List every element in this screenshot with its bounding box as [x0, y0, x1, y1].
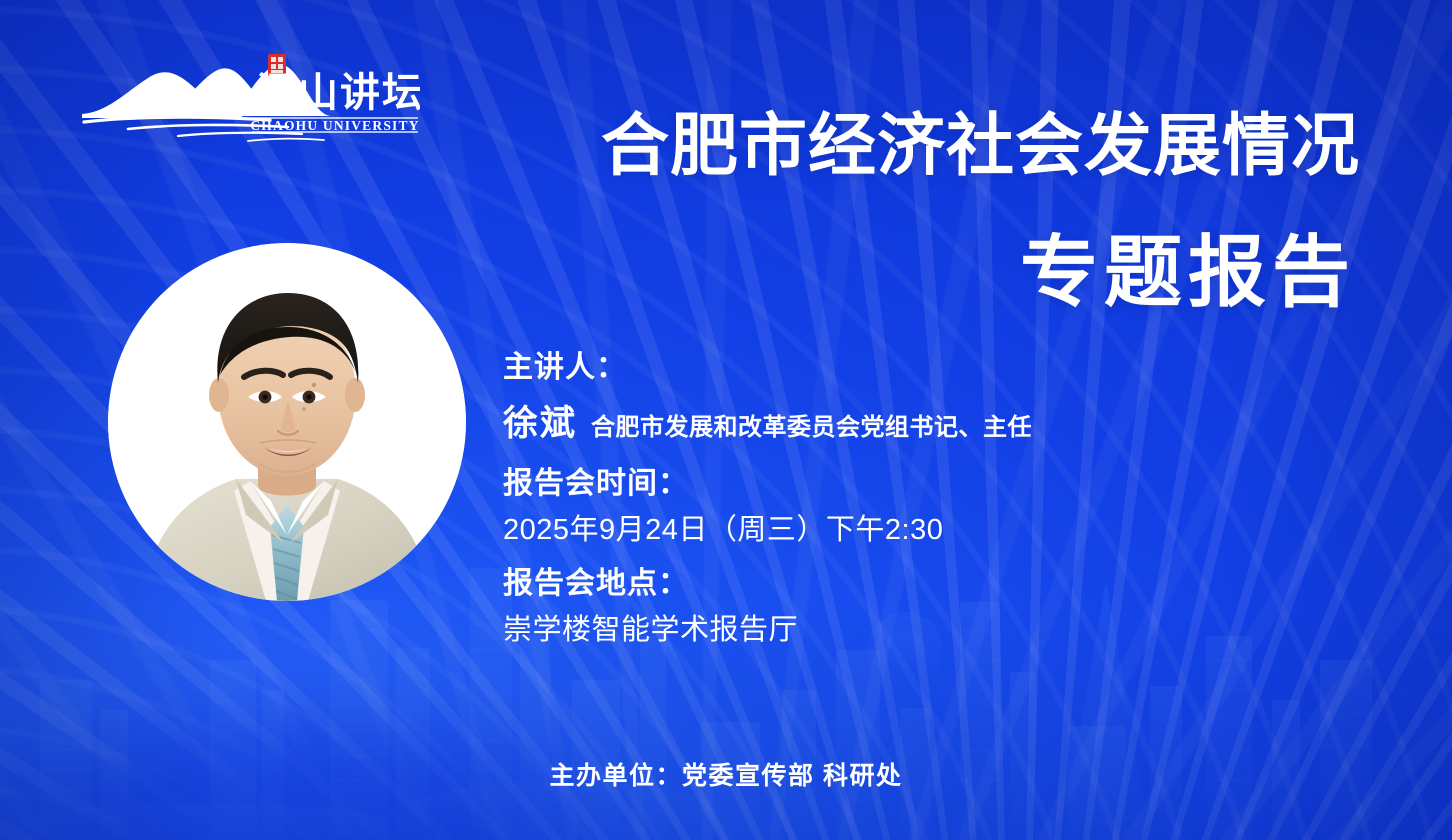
speaker-title: 合肥市发展和改革委员会党组书记、主任 [591, 407, 1032, 442]
event-info: 主讲人： 徐斌 合肥市发展和改革委员会党组书记、主任 报告会时间： 2025年9… [503, 348, 1383, 664]
avatar [108, 243, 466, 601]
poster-root: 汤山讲坛 CHAOHU UNIVERSITY [0, 0, 1452, 840]
logo-brand-cn: 汤山讲坛 [256, 70, 420, 115]
headline-line-2: 专题报告 [420, 233, 1360, 313]
speaker-name: 徐斌 [503, 395, 577, 446]
time-value: 2025年9月24日（周三）下午2:30 [503, 509, 1383, 553]
time-label: 报告会时间： [503, 464, 1383, 505]
place-label: 报告会地点： [503, 564, 1383, 605]
poster-headline: 合肥市经济社会发展情况 专题报告 [420, 112, 1360, 313]
chaohu-university-logo: 汤山讲坛 CHAOHU UNIVERSITY [74, 52, 420, 144]
speaker-portrait [108, 243, 466, 601]
place-value: 崇学楼智能学术报告厅 [503, 609, 1383, 653]
logo-brand-en: CHAOHU UNIVERSITY [250, 118, 419, 133]
organizer-footer: 主办单位：党委宣传部 科研处 [0, 756, 1452, 792]
speaker-row: 徐斌 合肥市发展和改革委员会党组书记、主任 [503, 395, 1383, 446]
speaker-label: 主讲人： [503, 348, 1383, 389]
headline-line-1: 合肥市经济社会发展情况 [420, 112, 1360, 181]
